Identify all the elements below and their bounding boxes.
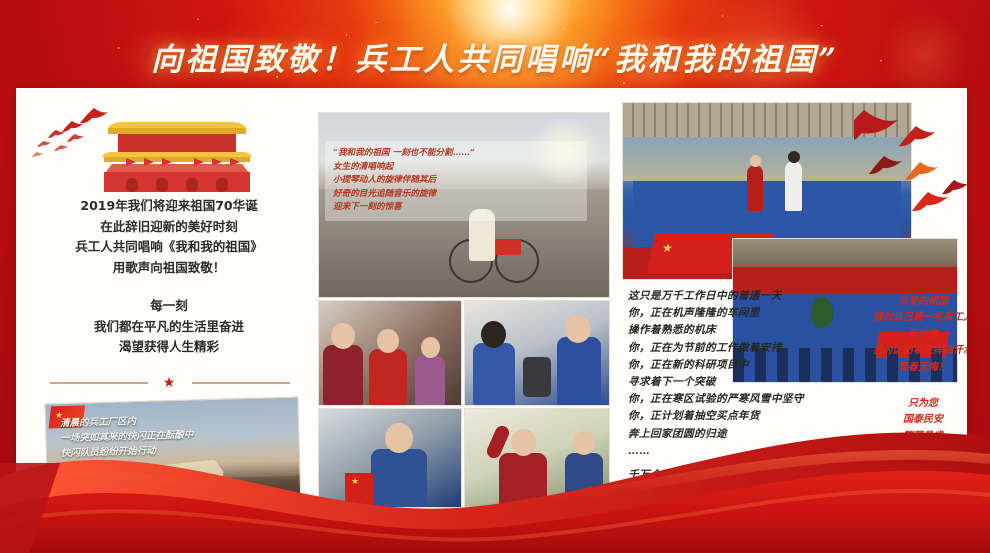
head-shape xyxy=(385,423,413,453)
figure-shape xyxy=(747,165,763,211)
bike-caption-line-4: 迎来下一刻的惊喜 xyxy=(333,201,579,215)
right-body-line-6: 你，正在寒区试验的严寒风雪中坚守 xyxy=(628,391,860,408)
right-body-line-0: 这只是万千工作日中的普通一天 xyxy=(628,288,860,305)
head-shape xyxy=(331,323,355,349)
right-closing-line-0: 千万个平凡执着的我们聚合在一起 xyxy=(628,467,860,484)
far-right-block2-line-2: 繁荣昌盛 xyxy=(862,429,967,445)
bike-caption-line-3: 好奇的目光追随音乐的旋律 xyxy=(333,188,579,202)
divider-bar-left xyxy=(50,382,148,384)
content-card: 2019年我们将迎来祖国70华诞 在此辞旧迎新的美好时刻 兵工人共同唱响《我和我… xyxy=(16,88,967,509)
right-body-line-9: …… xyxy=(628,443,860,460)
far-right-block1-line-4: 青春无悔！ xyxy=(862,360,967,376)
right-body-line-8: 奔上回家团圆的归途 xyxy=(628,426,860,443)
far-right-block1-line-1: 我为自己是一名兵工人 xyxy=(862,310,967,326)
right-body-line-1: 你，正在机声隆隆的车间里 xyxy=(628,305,860,322)
right-body-text: 这只是万千工作日中的普通一天 你，正在机声隆隆的车间里 操作着熟悉的机床 你，正… xyxy=(628,288,860,509)
photo-factory-dawn-caption: 清晨的兵工厂区内 一场突如其来的快闪正在酝酿中 快闪队员纷纷开始行动 xyxy=(60,410,286,461)
head-shape xyxy=(565,315,591,343)
bike-caption-line-2: 小提琴动人的旋律伴随其后 xyxy=(333,174,579,188)
photo-factory-dawn: ★ 清晨的兵工厂区内 一场突如其来的快闪正在酝酿中 快闪队员纷纷开始行动 xyxy=(44,396,301,509)
figure-shape xyxy=(415,355,445,405)
far-right-block2-line-0: 只为您 xyxy=(862,396,967,412)
figure-shape xyxy=(473,343,515,405)
head-shape xyxy=(750,155,761,167)
figure-shape xyxy=(369,349,407,405)
head-shape xyxy=(377,329,399,353)
right-body-line-4: 你，正在新的科研项目中 xyxy=(628,357,860,374)
treeline-shape xyxy=(48,475,301,509)
poster-root: 向祖国致敬！兵工人共同唱响“我和我的祖国” xyxy=(0,0,990,553)
photo-office-bluecoats xyxy=(464,300,610,406)
photo-cyclist-street: “我和我的祖国 一刻也不能分割……” 女生的清唱响起 小提琴动人的旋律伴随其后 … xyxy=(318,112,610,298)
photo-cyclist-caption: “我和我的祖国 一刻也不能分割……” 女生的清唱响起 小提琴动人的旋律伴随其后 … xyxy=(325,141,587,221)
photo-waving-woman xyxy=(464,408,610,508)
flying-doves-icon xyxy=(854,100,967,228)
divider: ★ xyxy=(50,376,290,390)
right-body-line-5: 寻求着下一个突破 xyxy=(628,374,860,391)
head-shape xyxy=(511,429,536,456)
far-right-block2-line-1: 国泰民安 xyxy=(862,412,967,428)
left-second-line-0: 每一刻 xyxy=(24,296,314,317)
far-right-block1-line-3: 我为国防事业挥洒汗水 xyxy=(862,343,967,359)
star-icon: ★ xyxy=(162,376,176,390)
photo-canteen-women xyxy=(318,300,462,406)
left-second-line-1: 我们都在平凡的生活里奋进 xyxy=(24,317,314,338)
bicycle-basket xyxy=(495,239,521,255)
figure-shape xyxy=(785,161,802,211)
figure-shape xyxy=(371,449,427,507)
photo-worker-flag: ★ xyxy=(318,408,462,508)
head-shape xyxy=(788,151,800,163)
far-right-block1-line-2: 而骄傲 xyxy=(862,327,967,343)
left-intro-line-0: 2019年我们将迎来祖国70华诞 xyxy=(24,196,314,217)
poster-title: 向祖国致敬！兵工人共同唱响“我和我的祖国” xyxy=(0,34,990,79)
right-body-line-7: 你，正计划着抽空买点年货 xyxy=(628,408,860,425)
figure-shape xyxy=(565,453,603,507)
divider-bar-right xyxy=(192,382,290,384)
right-closing-line-1: 是兵工人对“铸国防利剑” xyxy=(628,484,860,501)
office-chair-shape xyxy=(523,357,551,397)
right-closing-line-2: 不变的初心和坚守 xyxy=(628,501,860,509)
bike-caption-line-0: “我和我的祖国 一刻也不能分割……” xyxy=(333,147,579,161)
flag-star: ★ xyxy=(351,477,359,487)
left-second-line-2: 渴望获得人生精彩 xyxy=(24,337,314,358)
figure-shape xyxy=(323,345,363,405)
left-column: 2019年我们将迎来祖国70华诞 在此辞旧迎新的美好时刻 兵工人共同唱响《我和我… xyxy=(24,92,314,506)
figure-shape xyxy=(499,453,547,507)
head-shape xyxy=(573,431,595,455)
right-body-line-3: 你，正在为节前的工作做着安排 xyxy=(628,340,860,357)
far-right-block1-line-0: 亲爱的祖国 xyxy=(862,294,967,310)
head-shape xyxy=(481,321,506,348)
left-intro-line-2: 兵工人共同唱响《我和我的祖国》 xyxy=(24,237,314,258)
left-intro-line-1: 在此辞旧迎新的美好时刻 xyxy=(24,217,314,238)
tiananmen-gate-icon xyxy=(82,106,272,192)
head-shape xyxy=(421,337,440,358)
left-intro-text: 2019年我们将迎来祖国70华诞 在此辞旧迎新的美好时刻 兵工人共同唱响《我和我… xyxy=(24,196,314,358)
figure-shape xyxy=(557,337,601,405)
far-right-text: 亲爱的祖国 我为自己是一名兵工人 而骄傲 我为国防事业挥洒汗水 青春无悔！ 只为… xyxy=(862,294,967,445)
right-body-line-2: 操作着熟悉的机床 xyxy=(628,322,860,339)
bike-caption-line-1: 女生的清唱响起 xyxy=(333,161,579,175)
left-intro-line-3: 用歌声向祖国致敬！ xyxy=(24,258,314,279)
